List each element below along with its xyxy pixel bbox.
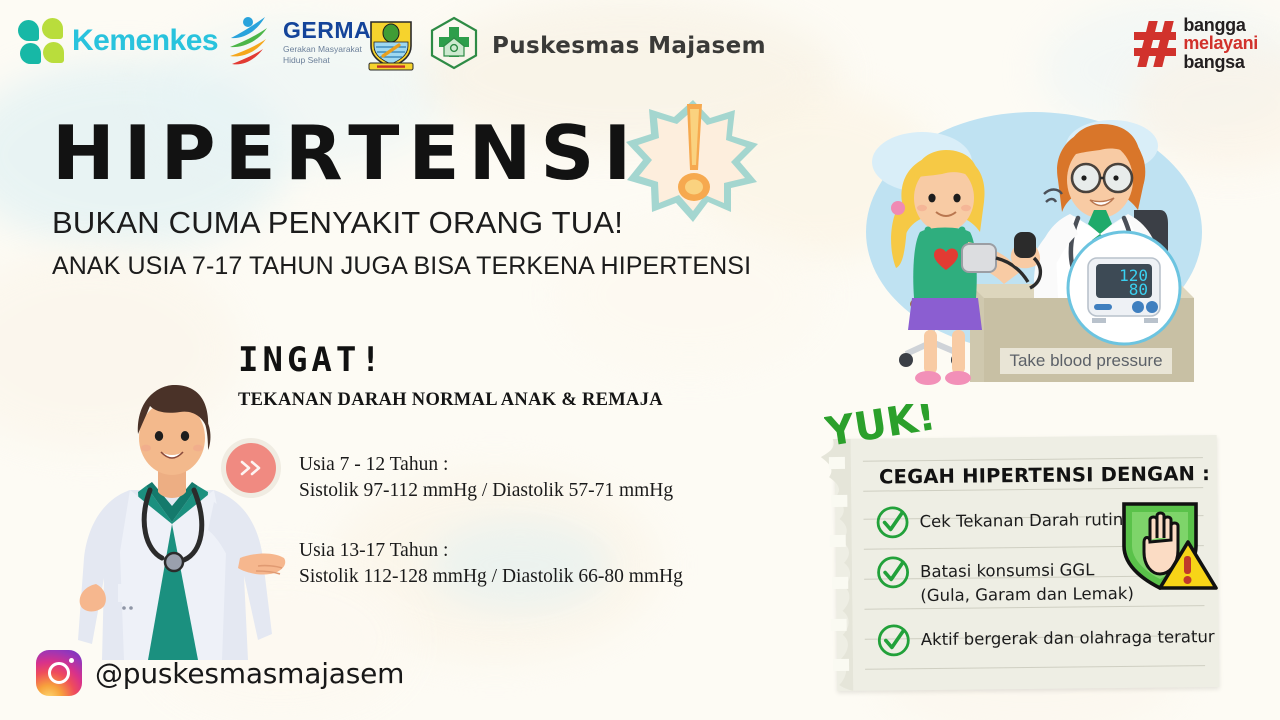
instagram-handle[interactable]: @puskesmasmajasem bbox=[95, 657, 404, 690]
ingat-block: INGAT! TEKANAN DARAH NORMAL ANAK & REMAJ… bbox=[238, 340, 663, 411]
instagram-footer[interactable]: @puskesmasmajasem bbox=[36, 650, 404, 696]
bp-values: Sistolik 112-128 mmHg / Diastolik 66-80 … bbox=[299, 564, 683, 590]
prevention-heading: CEGAH HIPERTENSI DENGAN : bbox=[879, 462, 1210, 488]
torn-paper-edge bbox=[815, 439, 854, 691]
stop-hand-warning-shield-icon bbox=[1112, 494, 1220, 594]
kemenkes-label: Kemenkes bbox=[72, 24, 218, 58]
monitor-diastolic-value: 80 bbox=[1129, 280, 1148, 299]
check-circle-icon bbox=[877, 623, 911, 657]
prevention-item: Batasi konsumsi GGL (Gula, Garam dan Lem… bbox=[876, 558, 1134, 609]
bp-row: Usia 7 - 12 Tahun : Sistolik 97-112 mmHg… bbox=[299, 452, 683, 505]
prevention-item: Cek Tekanan Darah rutin bbox=[875, 508, 1123, 540]
prevention-item: Aktif bergerak dan olahraga teratur bbox=[877, 625, 1215, 658]
prevention-item-label: Aktif bergerak dan olahraga teratur bbox=[921, 625, 1215, 652]
yuk-sticker-text: YUK! bbox=[824, 404, 939, 456]
ingat-heading: INGAT! bbox=[238, 340, 663, 380]
puskesmas-logo: Puskesmas Majasem bbox=[428, 16, 766, 75]
exclamation-burst-icon bbox=[618, 92, 768, 227]
puskesmas-label: Puskesmas Majasem bbox=[492, 33, 766, 59]
bangga-line2: melayani bbox=[1183, 34, 1258, 52]
prevention-item-sublabel: (Gula, Garam dan Lemak) bbox=[920, 582, 1134, 608]
prevention-item-label: Cek Tekanan Darah rutin bbox=[919, 508, 1123, 534]
instagram-icon[interactable] bbox=[36, 650, 82, 696]
city-emblem-icon bbox=[363, 18, 419, 72]
kemenkes-pinwheel-icon bbox=[18, 18, 64, 64]
logo-strip: Kemenkes GERMAS Gerakan Masyarakat Hidup… bbox=[0, 0, 1280, 86]
yuk-sticker: YUK! bbox=[824, 404, 944, 456]
bangga-melayani-bangsa-logo: bangga melayani bangsa bbox=[1134, 16, 1258, 71]
bangga-line1: bangga bbox=[1183, 16, 1258, 34]
ingat-subheading: TEKANAN DARAH NORMAL ANAK & REMAJA bbox=[238, 390, 663, 411]
check-circle-icon bbox=[875, 505, 909, 539]
germas-figure-icon bbox=[225, 14, 277, 70]
poster-canvas: Kemenkes GERMAS Gerakan Masyarakat Hidup… bbox=[0, 0, 1280, 720]
puskesmas-cross-hexagon-icon bbox=[428, 16, 480, 75]
bp-row: Usia 13-17 Tahun : Sistolik 112-128 mmHg… bbox=[299, 538, 683, 591]
bangga-line3: bangsa bbox=[1183, 53, 1258, 71]
prevention-item-label: Batasi konsumsi GGL bbox=[920, 558, 1134, 584]
kemenkes-logo: Kemenkes bbox=[18, 18, 218, 64]
blood-pressure-list: Usia 7 - 12 Tahun : Sistolik 97-112 mmHg… bbox=[299, 452, 683, 590]
female-doctor-illustration bbox=[62, 372, 292, 662]
hero-subtitle-2: ANAK USIA 7-17 TAHUN JUGA BISA TERKENA H… bbox=[52, 252, 751, 281]
blood-pressure-check-illustration: Take blood pressure bbox=[862, 92, 1202, 392]
bp-age-range: Usia 7 - 12 Tahun : bbox=[299, 452, 683, 478]
bp-values: Sistolik 97-112 mmHg / Diastolik 57-71 m… bbox=[299, 478, 683, 504]
hashtag-icon bbox=[1134, 21, 1176, 67]
bp-age-range: Usia 13-17 Tahun : bbox=[299, 538, 683, 564]
illustration-caption-text: Take blood pressure bbox=[1009, 351, 1162, 370]
check-circle-icon bbox=[876, 555, 910, 589]
